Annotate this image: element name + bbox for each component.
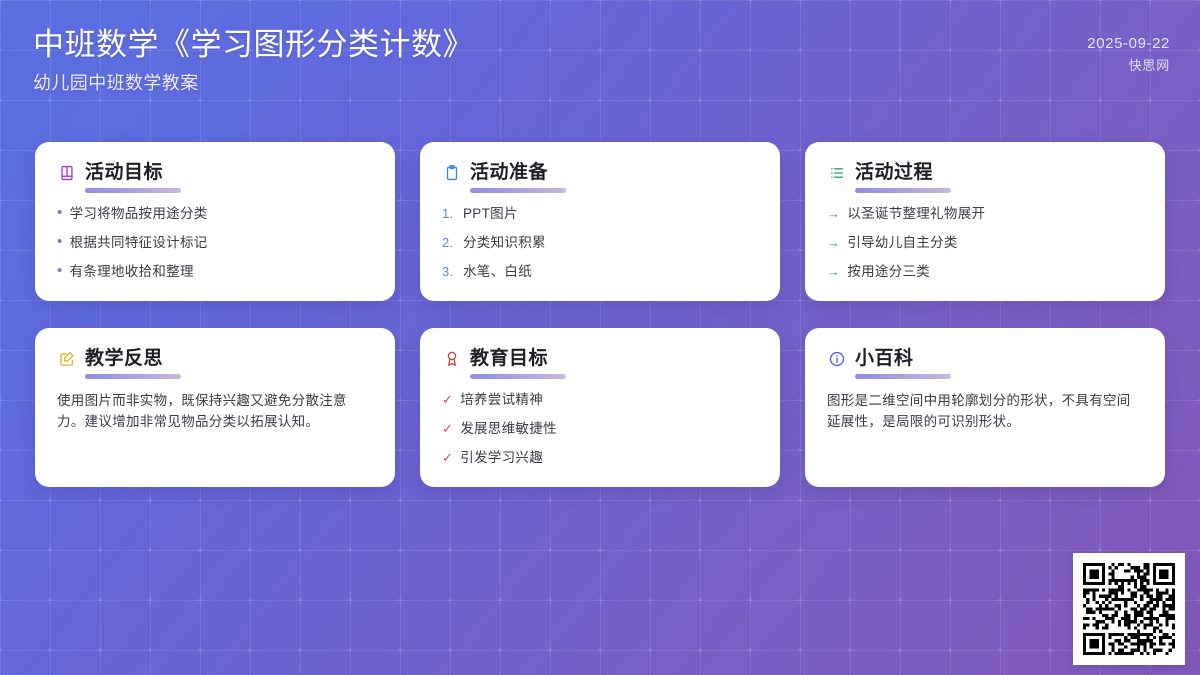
list-item-text: 引发学习兴趣 — [460, 448, 543, 467]
list-item: • 学习将物品按用途分类 — [57, 204, 373, 223]
list-item-text: 有条理地收拾和整理 — [70, 262, 194, 281]
list-item: ✓ 引发学习兴趣 — [442, 448, 758, 467]
list-item: • 有条理地收拾和整理 — [57, 262, 373, 281]
date-label: 2025-09-22 — [1087, 33, 1170, 55]
title-underline — [85, 374, 181, 379]
bullet-icon: • — [57, 262, 63, 280]
list-item-text: 按用途分三类 — [847, 262, 930, 281]
check-icon: ✓ — [442, 419, 453, 438]
page-subtitle: 幼儿园中班数学教案 — [33, 68, 474, 98]
list-item: → 以圣诞节整理礼物展开 — [827, 204, 1143, 223]
list-item-text: 分类知识积累 — [463, 233, 546, 252]
list-item-text: 以圣诞节整理礼物展开 — [847, 204, 985, 223]
card-title: 教育目标 — [470, 347, 548, 371]
clipboard-icon — [442, 164, 461, 183]
card-activity-goals: 活动目标 • 学习将物品按用途分类 • 根据共同特征设计标记 • 有条理地收拾和… — [35, 142, 395, 301]
list-icon — [827, 164, 846, 183]
bullet-icon: • — [57, 233, 63, 251]
list-item: → 引导幼儿自主分类 — [827, 233, 1143, 252]
header-right: 2025-09-22 快思网 — [1087, 33, 1170, 77]
card-activity-process: 活动过程 → 以圣诞节整理礼物展开 → 引导幼儿自主分类 → 按用途分三类 — [805, 142, 1165, 301]
list-item-text: 引导幼儿自主分类 — [847, 233, 957, 252]
check-icon: ✓ — [442, 448, 453, 467]
edit-square-icon — [57, 350, 76, 369]
info-circle-icon — [827, 350, 846, 369]
page-title: 中班数学《学习图形分类计数》 — [33, 24, 474, 66]
list-item: 3. 水笔、白纸 — [442, 262, 758, 281]
list-item: 2. 分类知识积累 — [442, 233, 758, 252]
reflection-text: 使用图片而非实物，既保持兴趣又避免分散注意力。建议增加非常见物品分类以拓展认知。 — [57, 390, 373, 432]
card-title: 小百科 — [855, 347, 914, 371]
card-header: 活动目标 — [57, 161, 373, 185]
bullet-icon: • — [57, 204, 63, 222]
slide-header: 中班数学《学习图形分类计数》 幼儿园中班数学教案 2025-09-22 快思网 — [0, 0, 1200, 122]
title-underline — [470, 374, 566, 379]
card-header: 教学反思 — [57, 347, 373, 371]
title-underline — [855, 188, 951, 193]
slide-canvas: 中班数学《学习图形分类计数》 幼儿园中班数学教案 2025-09-22 快思网 … — [0, 0, 1200, 675]
list-item: ✓ 发展思维敏捷性 — [442, 419, 758, 438]
card-encyclopedia: 小百科 图形是二维空间中用轮廓划分的形状，不具有空间延展性，是局限的可识别形状。 — [805, 328, 1165, 487]
qr-code-image — [1083, 563, 1175, 655]
list-number: 2. — [442, 233, 456, 252]
card-header: 教育目标 — [442, 347, 758, 371]
card-title: 活动准备 — [470, 161, 548, 185]
arrow-icon: → — [827, 262, 840, 281]
list-item-text: 培养尝试精神 — [460, 390, 543, 409]
preparation-list: 1. PPT图片 2. 分类知识积累 3. 水笔、白纸 — [442, 204, 758, 281]
book-icon — [57, 164, 76, 183]
encyclopedia-text: 图形是二维空间中用轮廓划分的形状，不具有空间延展性，是局限的可识别形状。 — [827, 390, 1143, 432]
card-header: 活动准备 — [442, 161, 758, 185]
arrow-icon: → — [827, 233, 840, 252]
qr-code[interactable] — [1073, 553, 1185, 665]
list-number: 1. — [442, 204, 456, 223]
list-item-text: 发展思维敏捷性 — [460, 419, 557, 438]
card-header: 活动过程 — [827, 161, 1143, 185]
process-list: → 以圣诞节整理礼物展开 → 引导幼儿自主分类 → 按用途分三类 — [827, 204, 1143, 281]
list-item: 1. PPT图片 — [442, 204, 758, 223]
education-goal-list: ✓ 培养尝试精神 ✓ 发展思维敏捷性 ✓ 引发学习兴趣 — [442, 390, 758, 467]
title-underline — [855, 374, 951, 379]
card-title: 活动目标 — [85, 161, 163, 185]
card-title: 教学反思 — [85, 347, 163, 371]
card-grid: 活动目标 • 学习将物品按用途分类 • 根据共同特征设计标记 • 有条理地收拾和… — [35, 142, 1165, 487]
list-item: • 根据共同特征设计标记 — [57, 233, 373, 252]
arrow-icon: → — [827, 204, 840, 223]
goal-list: • 学习将物品按用途分类 • 根据共同特征设计标记 • 有条理地收拾和整理 — [57, 204, 373, 281]
list-item: → 按用途分三类 — [827, 262, 1143, 281]
award-ribbon-icon — [442, 350, 461, 369]
title-underline — [85, 188, 181, 193]
header-left: 中班数学《学习图形分类计数》 幼儿园中班数学教案 — [33, 24, 474, 98]
list-item-text: 学习将物品按用途分类 — [70, 204, 208, 223]
site-name-label: 快思网 — [1087, 55, 1170, 77]
card-teaching-reflection: 教学反思 使用图片而非实物，既保持兴趣又避免分散注意力。建议增加非常见物品分类以… — [35, 328, 395, 487]
card-activity-preparation: 活动准备 1. PPT图片 2. 分类知识积累 3. 水笔、白纸 — [420, 142, 780, 301]
list-item: ✓ 培养尝试精神 — [442, 390, 758, 409]
list-number: 3. — [442, 262, 456, 281]
card-title: 活动过程 — [855, 161, 933, 185]
title-underline — [470, 188, 566, 193]
check-icon: ✓ — [442, 390, 453, 409]
list-item-text: PPT图片 — [463, 204, 518, 223]
list-item-text: 根据共同特征设计标记 — [70, 233, 208, 252]
card-header: 小百科 — [827, 347, 1143, 371]
card-education-goals: 教育目标 ✓ 培养尝试精神 ✓ 发展思维敏捷性 ✓ 引发学习兴趣 — [420, 328, 780, 487]
list-item-text: 水笔、白纸 — [463, 262, 532, 281]
